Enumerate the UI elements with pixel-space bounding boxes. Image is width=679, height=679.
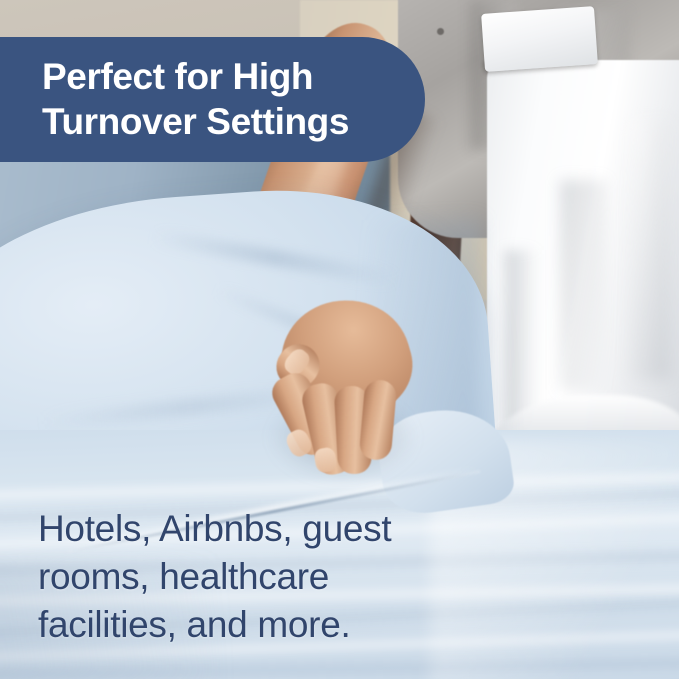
photo-apron-fold-3 <box>505 250 539 430</box>
use-cases-caption: Hotels, Airbnbs, guest rooms, healthcare… <box>38 505 508 649</box>
headline-text: Perfect for High Turnover Settings <box>0 55 367 144</box>
photo-apron-fold-2 <box>630 120 670 380</box>
photo-apron-fold-1 <box>560 180 606 390</box>
photo-shirt-button <box>437 28 444 35</box>
photo-sleeve-cuff <box>481 6 598 72</box>
promo-image: Perfect for High Turnover Settings Hotel… <box>0 0 679 679</box>
headline-banner: Perfect for High Turnover Settings <box>0 37 425 162</box>
